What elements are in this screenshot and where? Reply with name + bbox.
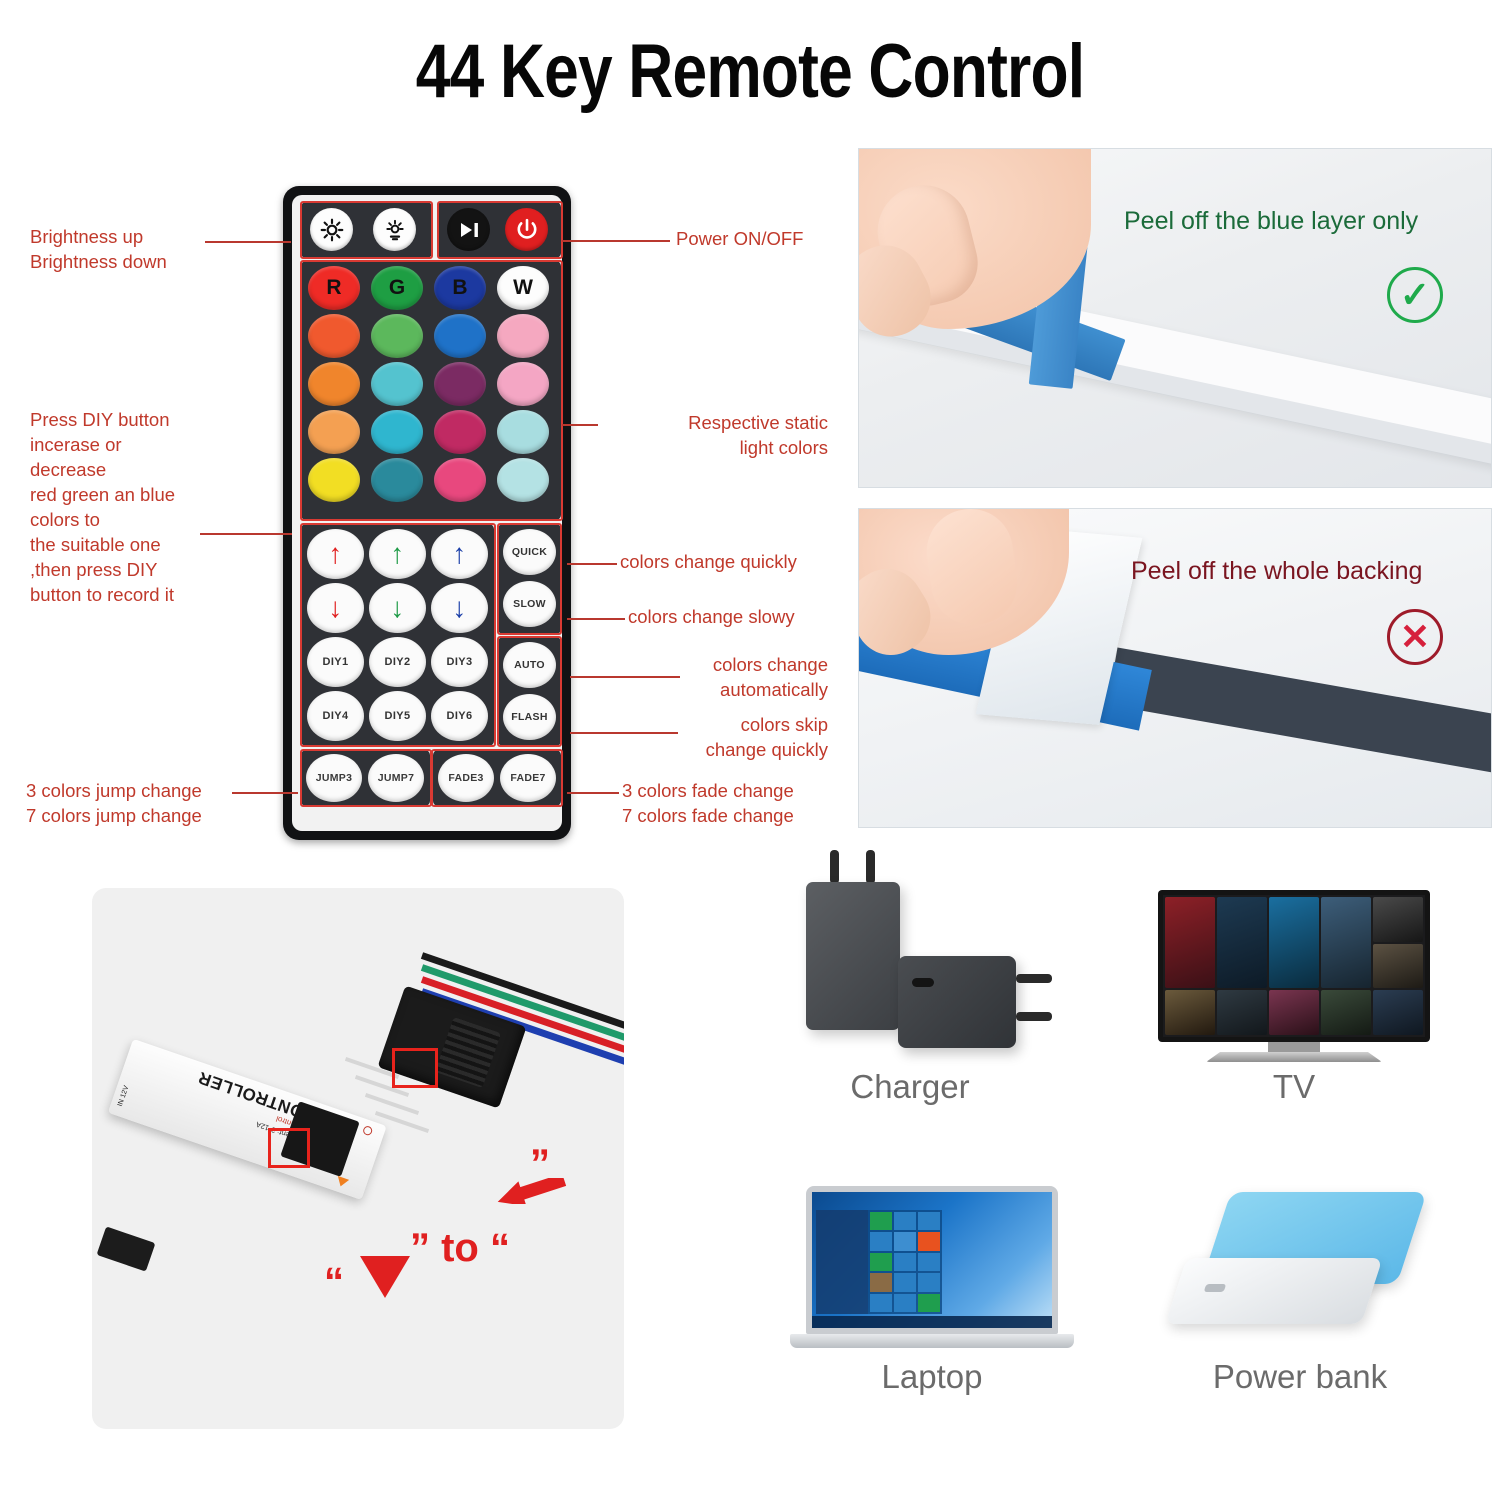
color-button-11[interactable] — [497, 362, 549, 406]
power-bank-label: Power bank — [1160, 1358, 1440, 1396]
jump-button-jump3[interactable]: JUMP3 — [306, 754, 362, 802]
function-button-diy1[interactable]: DIY1 — [307, 637, 364, 687]
color-button-12[interactable] — [308, 410, 360, 454]
arrow-down-blue-button[interactable]: ↓ — [431, 583, 488, 633]
laptop-screen — [812, 1192, 1052, 1328]
color-button-17[interactable] — [371, 458, 423, 502]
fade-buttons-group: FADE3FADE7 — [433, 750, 561, 806]
function-button-diy6[interactable]: DIY6 — [431, 691, 488, 741]
callout-flash: colors skip change quickly — [608, 712, 828, 762]
callout-jump: 3 colors jump change 7 colors jump chang… — [26, 778, 276, 828]
color-button-5[interactable] — [371, 314, 423, 358]
function-buttons-group: ↑↑↑↓↓↓DIY1DIY2DIY3DIY4DIY5DIY6 — [301, 524, 494, 746]
highlight-marker-connector — [392, 1048, 438, 1088]
color-button-15[interactable] — [497, 410, 549, 454]
color-grid: RGBW — [308, 266, 554, 502]
controller-port-label: IN 12V — [117, 1085, 131, 1108]
button-label: FLASH — [511, 711, 548, 723]
color-button-10[interactable] — [434, 362, 486, 406]
speed-buttons-group: QUICKSLOW — [498, 524, 561, 634]
callout-quick: colors change quickly — [620, 549, 797, 574]
mode-button-flash[interactable]: FLASH — [503, 694, 556, 740]
button-label: FADE7 — [510, 772, 545, 784]
usb-port-icon — [912, 978, 934, 987]
function-grid: ↑↑↑↓↓↓DIY1DIY2DIY3DIY4DIY5DIY6 — [307, 529, 488, 741]
color-button-13[interactable] — [371, 410, 423, 454]
laptop-base — [790, 1334, 1074, 1348]
color-button-w[interactable]: W — [497, 266, 549, 310]
charger-body-front — [898, 956, 1016, 1048]
brightness-up-button[interactable] — [310, 208, 353, 251]
pin-3 — [365, 1093, 419, 1115]
button-label: JUMP7 — [378, 772, 415, 784]
tv-poster — [1165, 990, 1215, 1035]
arrow-down-green-icon: ↓ — [390, 594, 404, 622]
color-button-label: R — [326, 276, 341, 300]
color-button-label: G — [389, 276, 405, 300]
tv-poster — [1217, 990, 1267, 1035]
function-button-diy3[interactable]: DIY3 — [431, 637, 488, 687]
jump-grid: JUMP3JUMP7 — [306, 754, 424, 802]
start-menu-list — [816, 1210, 868, 1314]
color-button-16[interactable] — [308, 458, 360, 502]
color-button-label: W — [513, 276, 533, 300]
function-button-diy4[interactable]: DIY4 — [307, 691, 364, 741]
brightness-up-icon — [319, 217, 345, 243]
laptop-label: Laptop — [792, 1358, 1072, 1396]
quote-open-1: “ — [324, 1260, 344, 1305]
color-button-4[interactable] — [308, 314, 360, 358]
leader-jump — [232, 792, 298, 794]
highlight-marker-controller — [268, 1128, 310, 1168]
quote-close-2: ” — [530, 1142, 550, 1187]
function-button-diy2[interactable]: DIY2 — [369, 637, 426, 687]
speed-grid: QUICKSLOW — [503, 529, 556, 627]
tv-poster — [1373, 944, 1423, 989]
leader-flash — [570, 732, 678, 734]
arrow-up-blue-button[interactable]: ↑ — [431, 529, 488, 579]
infographic-page: 44 Key Remote Control — [0, 0, 1500, 1500]
laptop-taskbar — [812, 1316, 1052, 1328]
jump-button-jump7[interactable]: JUMP7 — [368, 754, 424, 802]
tv-label: TV — [1154, 1068, 1434, 1106]
arrow-up-red-button[interactable]: ↑ — [307, 529, 364, 579]
mode-button-auto[interactable]: AUTO — [503, 642, 556, 688]
leader-static — [562, 424, 598, 426]
color-button-9[interactable] — [371, 362, 423, 406]
brightness-down-icon — [383, 218, 407, 242]
annotation-to-text: ” to “ — [410, 1226, 510, 1271]
start-menu-tiles — [868, 1210, 942, 1314]
mode-grid: AUTOFLASH — [503, 642, 556, 740]
controller-logo-icon — [362, 1125, 373, 1136]
connector-ribs — [435, 1017, 501, 1088]
peel-correct-caption: Peel off the blue layer only — [1124, 207, 1418, 236]
controller-arrow-marker-icon — [335, 1176, 349, 1188]
button-label: AUTO — [514, 659, 545, 671]
brightness-group — [301, 202, 432, 258]
function-button-label: DIY1 — [322, 656, 348, 668]
callout-static-colors: Respective static light colors — [600, 410, 828, 460]
fade-button-fade7[interactable]: FADE7 — [500, 754, 556, 802]
arrow-up-green-button[interactable]: ↑ — [369, 529, 426, 579]
button-label: QUICK — [512, 546, 547, 558]
leader-quick — [567, 563, 617, 565]
color-button-19[interactable] — [497, 458, 549, 502]
controller-tail — [97, 1226, 156, 1271]
tv-poster — [1373, 897, 1423, 942]
function-button-label: DIY6 — [446, 710, 472, 722]
tv-poster — [1217, 897, 1267, 988]
power-bank-bottom — [1165, 1258, 1382, 1324]
callout-fade: 3 colors fade change 7 colors fade chang… — [622, 778, 852, 828]
laptop-device — [806, 1186, 1058, 1334]
remote-faceplate: RGBW ↑↑↑↓↓↓DIY1DIY2DIY3DIY4DIY5DIY6 QUIC… — [292, 195, 562, 831]
arrow-down-blue-icon: ↓ — [452, 594, 466, 622]
callout-brightness: Brightness up Brightness down — [30, 224, 270, 274]
charger-prongs — [818, 850, 908, 872]
tv-device — [1158, 890, 1430, 1042]
color-button-14[interactable] — [434, 410, 486, 454]
remote-control: RGBW ↑↑↑↓↓↓DIY1DIY2DIY3DIY4DIY5DIY6 QUIC… — [283, 186, 571, 840]
color-button-g[interactable]: G — [371, 266, 423, 310]
leader-slow — [567, 618, 625, 620]
callout-slow: colors change slowy — [628, 604, 795, 629]
charger-label: Charger — [770, 1068, 1050, 1106]
mode-buttons-group: AUTOFLASH — [498, 637, 561, 746]
tv-poster — [1321, 990, 1371, 1035]
arrow-up-blue-icon: ↑ — [452, 540, 466, 568]
color-button-7[interactable] — [497, 314, 549, 358]
function-button-label: DIY3 — [446, 656, 472, 668]
function-button-label: DIY4 — [322, 710, 348, 722]
charger-prong-side-2 — [1016, 1012, 1052, 1021]
speed-button-quick[interactable]: QUICK — [503, 529, 556, 575]
callout-power: Power ON/OFF — [676, 226, 803, 251]
jump-buttons-group: JUMP3JUMP7 — [301, 750, 430, 806]
arrow-down-red-icon: ↓ — [328, 594, 342, 622]
leader-brightness — [205, 241, 291, 243]
tv-poster — [1165, 897, 1215, 988]
color-button-6[interactable] — [434, 314, 486, 358]
function-button-label: DIY2 — [384, 656, 410, 668]
speed-button-slow[interactable]: SLOW — [503, 581, 556, 627]
color-button-8[interactable] — [308, 362, 360, 406]
power-group — [437, 202, 561, 258]
power-bank-port-icon — [1204, 1284, 1227, 1292]
fade-button-fade3[interactable]: FADE3 — [438, 754, 494, 802]
tv-stand-base — [1206, 1052, 1382, 1062]
callout-diy: Press DIY button incerase or decrease re… — [30, 407, 280, 607]
button-label: FADE3 — [448, 772, 483, 784]
leader-fade — [567, 792, 619, 794]
tv-poster — [1269, 990, 1319, 1035]
color-button-b[interactable]: B — [434, 266, 486, 310]
remote-top-row — [301, 202, 561, 258]
color-buttons-group: RGBW — [301, 261, 561, 520]
power-icon — [515, 218, 539, 242]
play-pause-icon — [457, 220, 481, 240]
brightness-down-button[interactable] — [373, 208, 416, 251]
arrow-down-red-button[interactable]: ↓ — [307, 583, 364, 633]
function-button-diy5[interactable]: DIY5 — [369, 691, 426, 741]
color-button-label: B — [452, 276, 467, 300]
power-button[interactable] — [505, 208, 548, 251]
peel-correct-photo: Peel off the blue layer only ✓ — [858, 148, 1492, 488]
charger-prong-side-1 — [1016, 974, 1052, 983]
page-title: 44 Key Remote Control — [135, 28, 1365, 115]
arrow-down-green-button[interactable]: ↓ — [369, 583, 426, 633]
arrow-up-red-icon: ↑ — [328, 540, 342, 568]
play-pause-button[interactable] — [447, 208, 490, 251]
charger-body-back — [806, 882, 900, 1030]
leader-auto — [570, 676, 680, 678]
leader-diy — [200, 533, 292, 535]
button-label: JUMP3 — [316, 772, 353, 784]
function-button-label: DIY5 — [384, 710, 410, 722]
color-button-18[interactable] — [434, 458, 486, 502]
arrow-up-green-icon: ↑ — [390, 540, 404, 568]
button-label: SLOW — [513, 598, 546, 610]
controller-photo: LED CONTROLLER Mini Remote Control Part … — [92, 888, 624, 1429]
cross-badge: ✕ — [1387, 609, 1443, 665]
leader-power — [562, 240, 670, 242]
tv-screen — [1163, 895, 1425, 1037]
color-button-r[interactable]: R — [308, 266, 360, 310]
tv-poster — [1373, 990, 1423, 1035]
fade-grid: FADE3FADE7 — [438, 754, 556, 802]
tv-poster — [1321, 897, 1371, 988]
triangle-marker-icon — [360, 1256, 410, 1298]
peel-wrong-caption: Peel off the whole backing — [1131, 557, 1422, 586]
peel-wrong-photo: Peel off the whole backing ✕ — [858, 508, 1492, 828]
tv-poster — [1269, 897, 1319, 988]
check-badge: ✓ — [1387, 267, 1443, 323]
